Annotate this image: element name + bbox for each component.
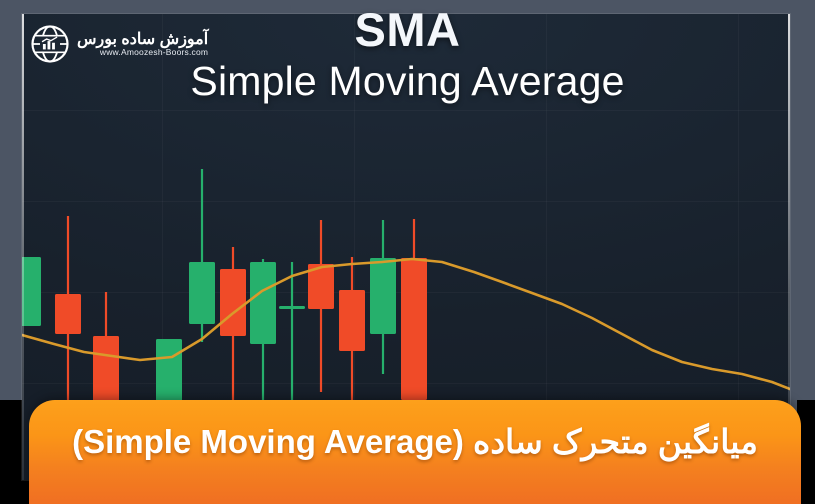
- brand-name: آموزش ساده بورس: [77, 31, 208, 49]
- candle-body[interactable]: [370, 258, 396, 334]
- footer-banner: میانگین متحرک ساده (Simple Moving Averag…: [29, 400, 801, 504]
- candle-body[interactable]: [250, 262, 276, 344]
- candle-body[interactable]: [22, 257, 41, 326]
- poster-canvas: آموزش ساده بورس www.Amoozesh-Boors.com S…: [0, 0, 815, 504]
- candle-body[interactable]: [189, 262, 215, 324]
- brand-website: www.Amoozesh-Boors.com: [100, 48, 208, 57]
- brand-logo[interactable]: آموزش ساده بورس www.Amoozesh-Boors.com: [30, 24, 208, 64]
- candle-wick: [291, 262, 293, 414]
- candle-body[interactable]: [339, 290, 365, 351]
- banner-title: میانگین متحرک ساده (Simple Moving Averag…: [72, 422, 758, 461]
- candle-body[interactable]: [220, 269, 246, 336]
- candle-body[interactable]: [55, 294, 81, 334]
- candle-body[interactable]: [279, 306, 305, 309]
- candle-body[interactable]: [401, 258, 427, 400]
- globe-chart-icon: [30, 24, 70, 64]
